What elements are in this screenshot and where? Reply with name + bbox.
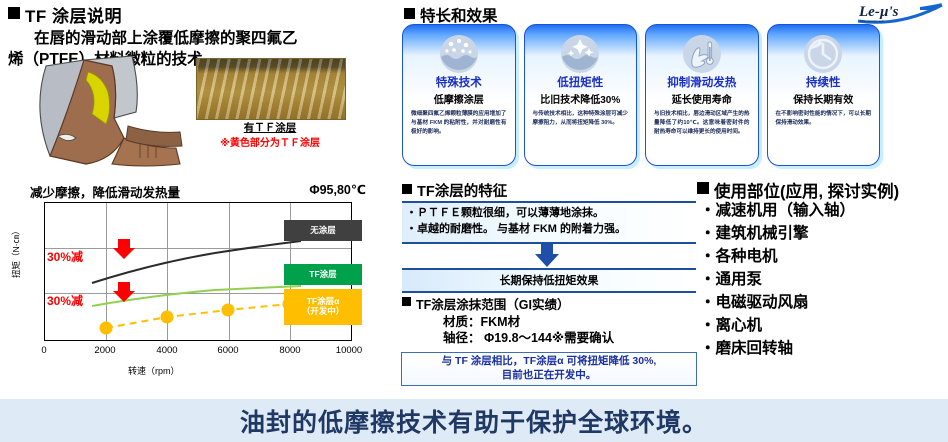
card-title: 持续性 [773, 77, 875, 90]
sparkle-circle-icon [559, 33, 601, 75]
banner-text: 油封的低摩擦技术有助于保护全球环境。 [240, 403, 708, 439]
data-point-marker [222, 304, 235, 317]
tf-explanation-heading: TF 涂层说明 [8, 2, 393, 27]
svg-text:Le-µ's: Le-µ's [858, 4, 899, 20]
feature-cards-row: 特殊技术 低摩擦涂层 微细聚四氟乙烯颗粒薄膜的应用增加了与基材 FKM 的粘附性… [402, 24, 880, 166]
reduction-annotation-bottom: 30%减 [47, 292, 83, 309]
card-body: 微细聚四氟乙烯颗粒薄膜的应用增加了与基材 FKM 的粘附性，并对耐磨性有极好的影… [408, 110, 510, 136]
down-arrow-icon [534, 243, 560, 267]
tf-features-heading: TF涂层的特征 [402, 180, 507, 201]
square-bullet-icon [402, 297, 411, 306]
tf-heading-label: TF 涂层说明 [25, 2, 122, 27]
tf-feature-item: ・卓越的耐磨性。 与基材 FKM 的附着力强。 [406, 222, 692, 238]
x-tick-8000: 8000 [279, 345, 300, 356]
tf-alpha-note-box: 与 TF 涂层相比，TF涂层α 可将扭矩降低 30%, 目前也正在开发中。 [401, 352, 697, 386]
card-title: 低扭矩性 [530, 77, 632, 90]
chart-x-axis-label: 转速（rpm） [128, 364, 180, 377]
tf-features-heading-label: TF涂层的特征 [417, 180, 507, 201]
square-bullet-icon [8, 7, 20, 19]
card-subtitle: 延长使用寿命 [651, 91, 753, 106]
tf-range-diameter: 轴径： Φ19.8～144※需要确认 [443, 327, 614, 346]
chart-condition-label: Φ95,80℃ [309, 182, 366, 197]
card-subtitle: 比旧技术降低30% [530, 91, 632, 106]
card-title: 抑制滑动发热 [651, 77, 753, 90]
usage-list-item: ・建筑机械引擎 [700, 223, 945, 246]
data-point-marker [161, 311, 174, 324]
usage-list-item: ・通用泵 [700, 269, 945, 292]
feature-card-special-technology[interactable]: 特殊技术 低摩擦涂层 微细聚四氟乙烯颗粒薄膜的应用增加了与基材 FKM 的粘附性… [402, 24, 516, 166]
tf-result-box: 长期保持低扭矩效果 [402, 268, 696, 293]
card-body: 与旧技术相比，唇边滑动区域产生的热量降低了约10℃。这意味着密封件的耐热寿命可以… [651, 110, 753, 136]
feature-card-heat-suppression[interactable]: 抑制滑动发热 延长使用寿命 与旧技术相比，唇边滑动区域产生的热量降低了约10℃。… [645, 24, 759, 166]
features-heading-label: 特长和效果 [420, 4, 498, 26]
tf-photo-caption: 有ＴＦ涂层 [196, 120, 344, 135]
tf-feature-item: ・ＰＴＦＥ颗粒很细，可以薄薄地涂抹。 [406, 206, 692, 222]
feature-card-durability[interactable]: 持续性 保持长期有效 在不影响密封性能的情况下，可以长期保持滑动效果。 [767, 24, 881, 166]
tf-features-box: ・ＰＴＦＥ颗粒很细，可以薄薄地涂抹。 ・卓越的耐磨性。 与基材 FKM 的附着力… [402, 201, 696, 244]
usage-heading: 使用部位(应用, 探讨实例) [697, 178, 899, 202]
square-bullet-icon [404, 8, 415, 19]
le-mus-logo: Le-µ's Low viscosity seal [856, 1, 944, 27]
usage-heading-label: 使用部位(应用, 探讨实例) [714, 178, 899, 202]
series-line-tf-alpha [106, 304, 289, 328]
square-bullet-icon [697, 182, 709, 194]
chart-title: 减少摩擦，降低滑动发热量 [30, 182, 180, 201]
thermometer-hand-icon [681, 33, 723, 75]
reduction-arrow-icon [113, 239, 135, 259]
legend-tf-coating: TF涂层 [284, 264, 362, 285]
x-tick-10000: 10000 [336, 345, 362, 356]
x-tick-0: 0 [41, 345, 46, 356]
data-point-marker [100, 322, 113, 335]
card-body: 在不影响密封性能的情况下，可以长期保持滑动效果。 [773, 110, 875, 127]
legend-tf-alpha: TF涂层α （开发中） [284, 289, 362, 325]
tf-coating-photo [196, 58, 346, 120]
oil-seal-cross-section-illustration [28, 52, 198, 172]
usage-list-item: ・磨床回转轴 [700, 338, 945, 361]
note-line-1: 与 TF 涂层相比，TF涂层α 可将扭矩降低 30%, [404, 355, 694, 369]
features-heading: 特长和效果 [404, 4, 498, 26]
usage-list-item: ・离心机 [700, 315, 945, 338]
x-tick-4000: 4000 [156, 345, 177, 356]
feature-card-low-torque[interactable]: 低扭矩性 比旧技术降低30% 与传统技术相比，这种特殊涂层可减少摩擦阻力，从而将… [524, 24, 638, 166]
x-tick-2000: 2000 [94, 345, 115, 356]
usage-list-item: ・各种电机 [700, 246, 945, 269]
card-body: 与传统技术相比，这种特殊涂层可减少摩擦阻力，从而将扭矩降低 30%。 [530, 110, 632, 127]
card-title: 特殊技术 [408, 77, 510, 90]
card-subtitle: 低摩擦涂层 [408, 91, 510, 106]
square-bullet-icon [402, 184, 412, 194]
slide-root: TF 涂层说明 在唇的滑动部上涂覆低摩擦的聚四氟乙 烯（PTFE）材料微粒的技术… [0, 0, 948, 442]
reduction-annotation-top: 30%减 [47, 248, 83, 265]
usage-list-item: ・减速机用（输入轴） [700, 200, 945, 223]
tf-desc-line-1: 在唇的滑动部上涂覆低摩擦的聚四氟乙 [8, 29, 393, 50]
legend-no-coating: 无涂层 [284, 220, 362, 241]
particles-circle-icon [438, 33, 480, 75]
card-subtitle: 保持长期有效 [773, 91, 875, 106]
tf-photo-note: ※黄色部分为ＴＦ涂层 [189, 134, 351, 149]
usage-list-item: ・电磁驱动风扇 [700, 292, 945, 315]
torque-vs-speed-chart: 减少摩擦，降低滑动发热量 Φ95,80℃ 扭矩（N·㎝） 转速（rpm） [8, 182, 394, 387]
usage-list: ・减速机用（输入轴） ・建筑机械引擎 ・各种电机 ・通用泵 ・电磁驱动风扇 ・离… [700, 200, 945, 361]
chart-y-axis-label: 扭矩（N·㎝） [10, 227, 22, 278]
reduction-arrow-icon [113, 282, 135, 302]
bottom-banner: 油封的低摩擦技术有助于保护全球环境。 [0, 399, 948, 442]
note-line-2: 目前也正在开发中。 [404, 369, 694, 383]
svg-text:Low viscosity seal: Low viscosity seal [860, 19, 884, 23]
clock-icon [802, 33, 844, 75]
x-tick-6000: 6000 [217, 345, 238, 356]
